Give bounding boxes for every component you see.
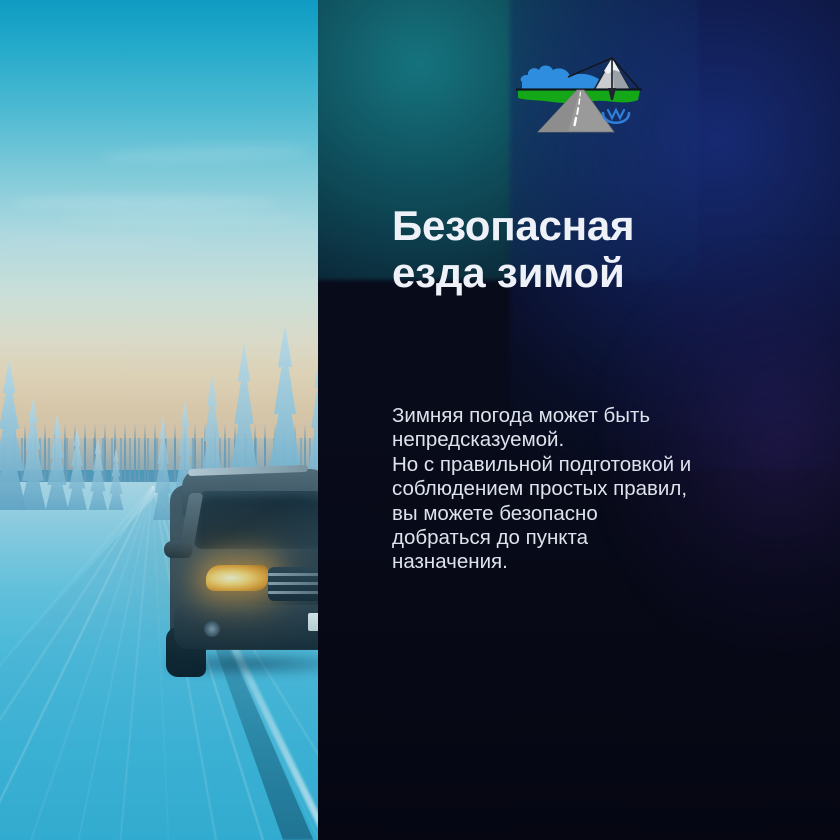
snow-covered-conifer: [64, 428, 90, 510]
poster: S29: [0, 0, 840, 840]
snow-covered-conifer: [106, 448, 126, 510]
dark-grey-suv: S29: [160, 455, 318, 675]
snow-covered-conifer: [86, 438, 110, 510]
illuminated-headlight: [206, 565, 268, 591]
winter-road-photograph: S29: [0, 0, 318, 840]
snow-covered-conifer: [42, 414, 72, 510]
crown-wave-emblem: [603, 110, 629, 123]
road-landscape-logo: [508, 44, 648, 139]
cloud-streak: [10, 196, 280, 210]
body-paragraph: Зимняя погода может быть непредсказуемой…: [392, 404, 812, 575]
fog-light: [204, 621, 220, 637]
side-mirror: [164, 541, 192, 558]
cloud-streak: [60, 215, 300, 224]
front-grille: [268, 567, 318, 601]
front-bumper: [174, 605, 318, 649]
page-title: Безопасная езда зимой: [392, 202, 792, 296]
windshield: [194, 491, 318, 549]
license-plate: S29: [308, 613, 318, 631]
cloud-streak: [0, 240, 200, 248]
near-trees-left: [0, 370, 124, 510]
